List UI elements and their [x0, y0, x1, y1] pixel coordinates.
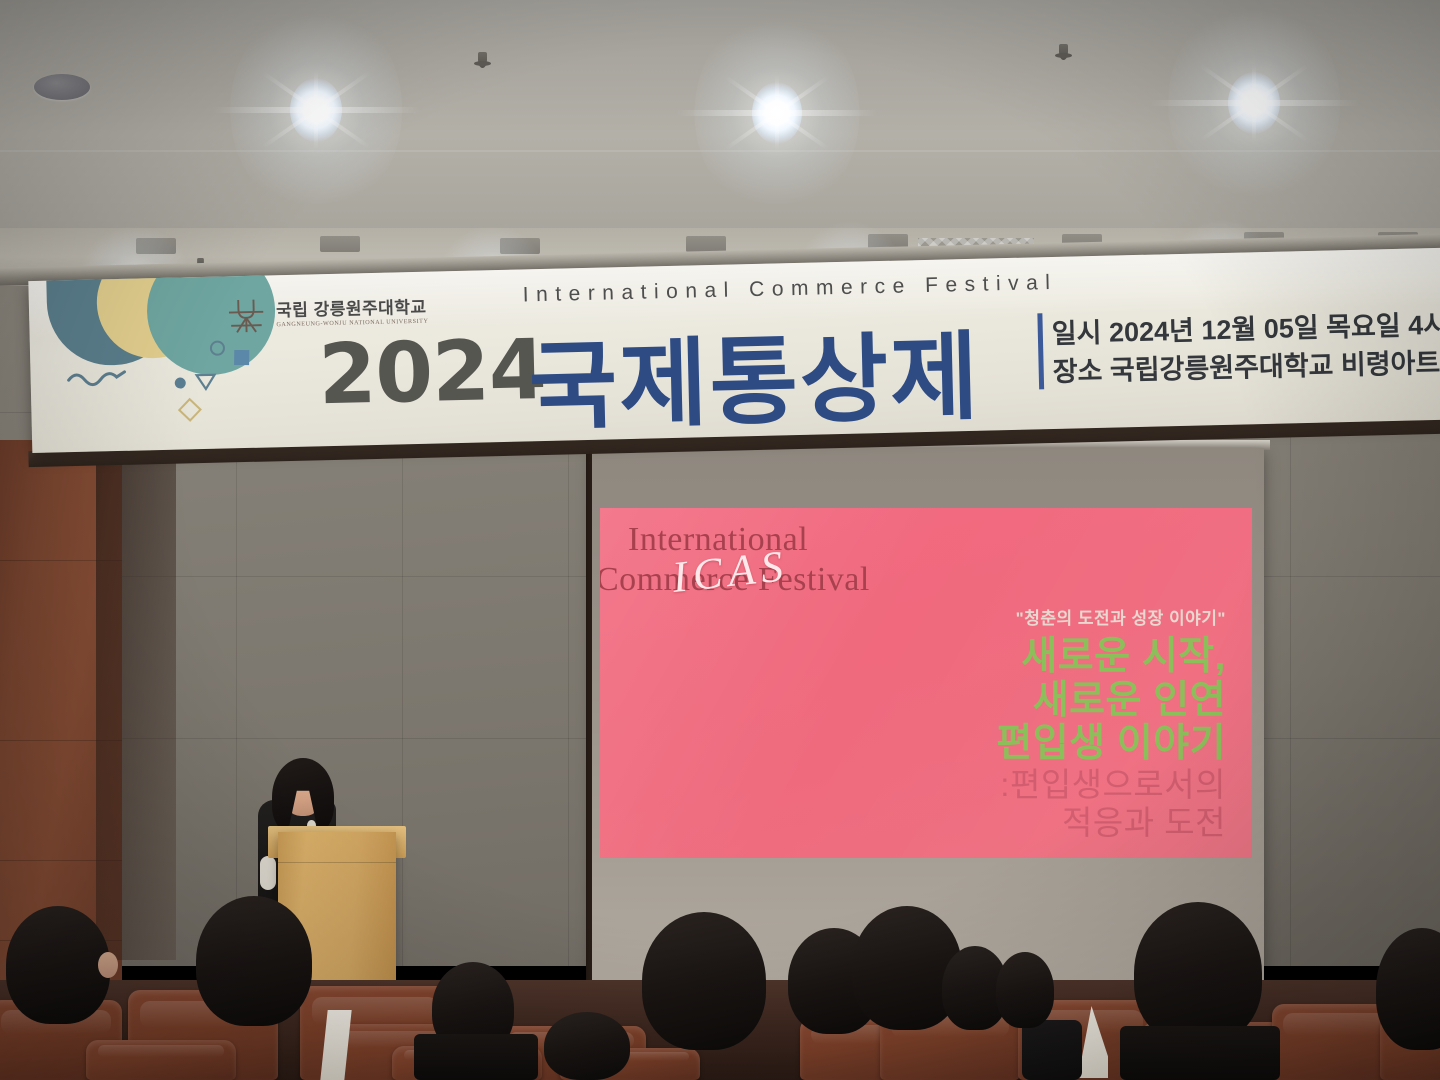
audience-shoulders — [1120, 1026, 1280, 1080]
event-banner: 국립 강릉원주대학교 GANGNEUNG-WONJU NATIONAL UNIV… — [0, 233, 1440, 473]
ceiling-vent — [686, 236, 726, 252]
ceiling-light — [752, 82, 802, 144]
audience-head — [544, 1012, 630, 1080]
ceiling-light — [290, 78, 342, 142]
blue-square-icon — [234, 350, 249, 365]
banner-year: 2024 — [317, 321, 546, 423]
presentation-slide: International Commerce Festival ICAS "청춘… — [600, 508, 1252, 858]
banner-info-divider — [1037, 313, 1044, 389]
gold-diamond-icon — [178, 398, 202, 422]
audience-head — [1134, 902, 1262, 1044]
slide-headline-2: 새로운 인연 — [996, 679, 1226, 723]
backpack — [1022, 1020, 1082, 1080]
ceiling-light — [1228, 72, 1280, 134]
slide-headline-block: "청춘의 도전과 성장 이야기" 새로운 시작, 새로운 인연 편입생 이야기 … — [996, 604, 1226, 841]
slide-subtitle-2: 적응과 도전 — [996, 804, 1226, 842]
university-name-kr: 국립 강릉원주대학교 — [276, 299, 428, 320]
slide-subtitle-1: :편입생으로서의 — [996, 766, 1226, 804]
auditorium-scene: International Commerce Festival ICAS "청춘… — [0, 0, 1440, 1080]
left-wall-shadow — [96, 440, 176, 960]
audience-head — [996, 952, 1054, 1028]
audience-head — [6, 906, 110, 1024]
ceiling-vent — [320, 236, 360, 252]
ceiling-speaker-icon — [34, 74, 90, 100]
wave-squiggle-icon — [66, 367, 128, 388]
slide-headline-1: 새로운 시작, — [996, 635, 1226, 679]
audience-ear — [98, 952, 118, 978]
small-dot-icon — [175, 377, 186, 388]
outline-triangle-icon — [195, 373, 217, 392]
banner-info-block: 일시 2024년 12월 05일 목요일 4시 장소 국립강릉원주대학교 비령아… — [1051, 305, 1440, 391]
auditorium-seat — [86, 1040, 236, 1080]
audience-head — [196, 896, 312, 1026]
banner-face: 국립 강릉원주대학교 GANGNEUNG-WONJU NATIONAL UNIV… — [28, 247, 1440, 453]
slide-headline-3: 편입생 이야기 — [996, 722, 1226, 766]
audience-shoulders — [414, 1034, 538, 1080]
banner-title-kr: 국제통상제 — [527, 299, 982, 449]
audience-head — [642, 912, 766, 1050]
sprinkler-icon — [478, 52, 487, 68]
sprinkler-icon — [1059, 44, 1068, 60]
slide-quote: "청춘의 도전과 성장 이야기" — [996, 604, 1226, 629]
presenter-sleeve-detail — [260, 856, 276, 890]
university-emblem-icon — [225, 295, 268, 336]
